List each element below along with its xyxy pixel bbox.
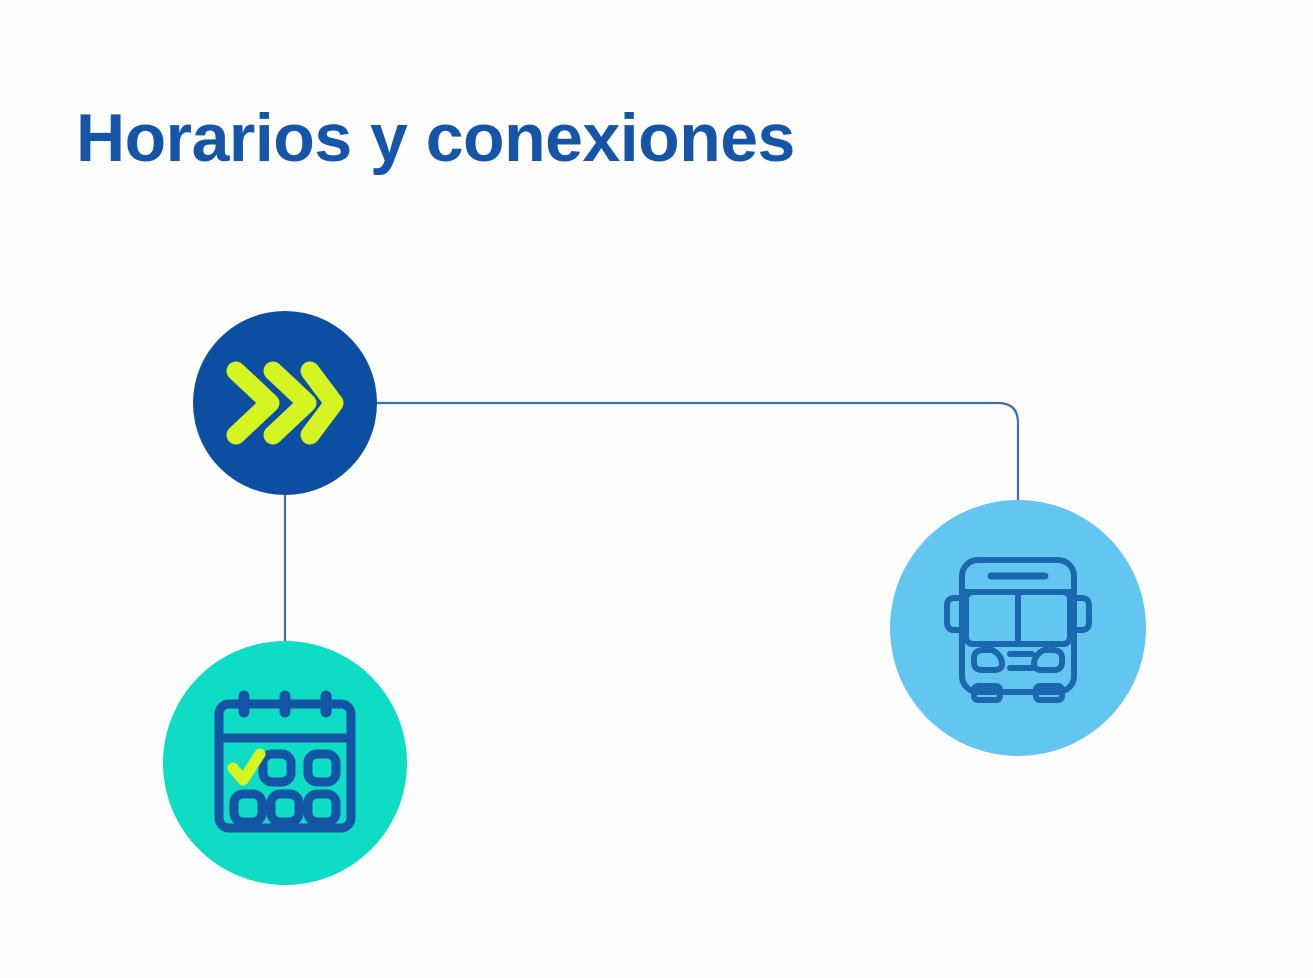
node-calendar[interactable] — [163, 641, 407, 885]
page-title: Horarios y conexiones — [76, 103, 795, 174]
slide-canvas: Horarios y conexiones — [0, 0, 1313, 978]
bus-front-icon — [936, 546, 1100, 710]
chevrons-right-icon — [220, 353, 350, 453]
calendar-check-icon — [210, 690, 360, 836]
node-bus[interactable] — [890, 500, 1146, 756]
node-chevrons[interactable] — [193, 311, 377, 495]
connector-chevrons-to-bus — [377, 403, 1018, 505]
